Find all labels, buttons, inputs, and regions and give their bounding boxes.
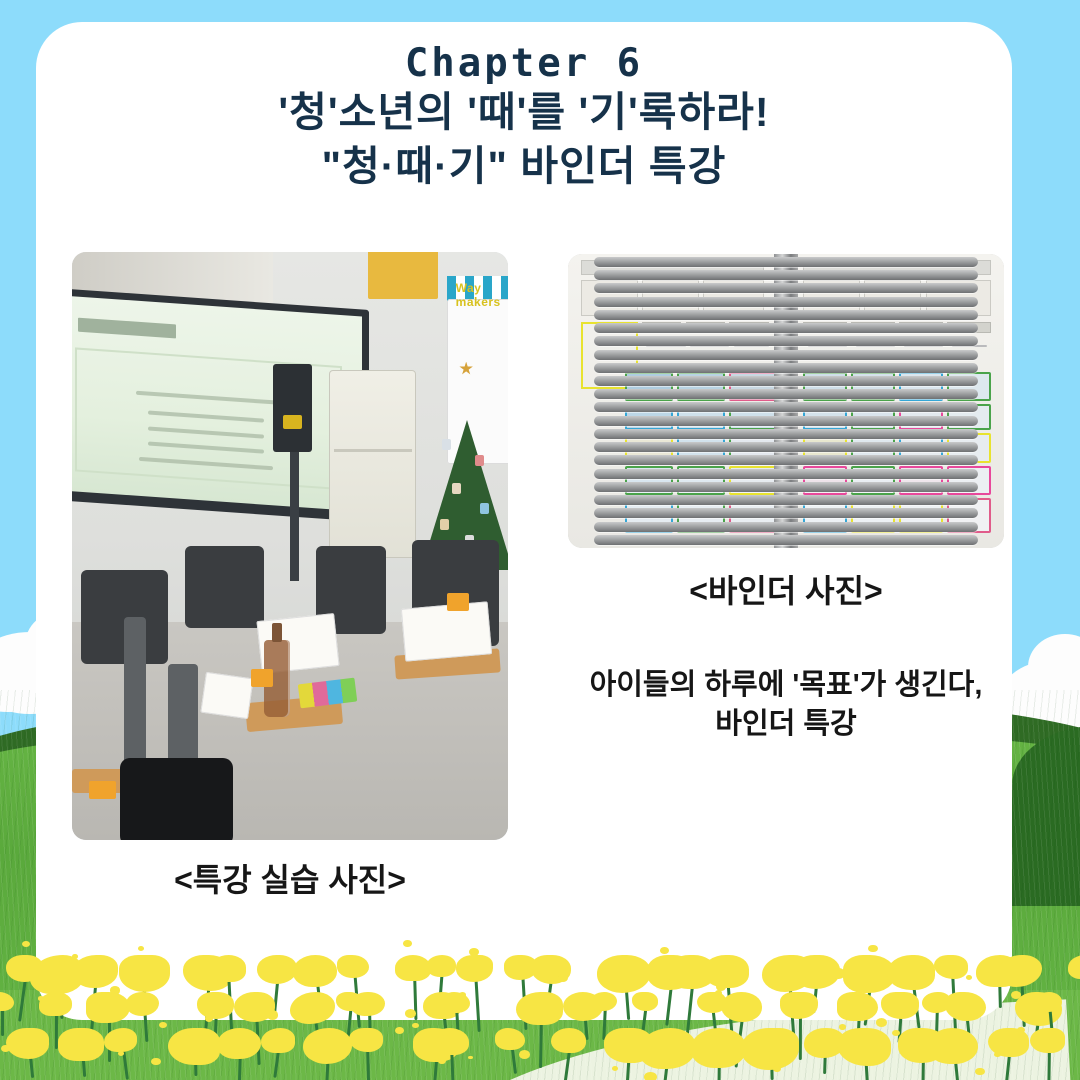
flower-petal-dot: [188, 1032, 193, 1036]
flower-head: [551, 1028, 586, 1053]
flower: [261, 1028, 295, 1080]
paper-sheet: [200, 672, 253, 719]
flower: [1030, 1028, 1065, 1080]
flower-head: [837, 1028, 890, 1066]
binder-ring: [594, 270, 978, 280]
flower-petal-dot: [110, 986, 120, 994]
flower-petal-dot: [868, 945, 878, 953]
flower-petal-dot: [839, 1024, 846, 1029]
page-title-line2: '청'소년의 '때'를 '기'록하라!: [36, 85, 1012, 139]
flower-head: [303, 1028, 353, 1064]
snack-pack: [89, 781, 115, 799]
tree-ornament: [442, 439, 451, 450]
caption-binder: <바인더 사진>: [568, 566, 1004, 612]
binder-ring: [594, 482, 978, 492]
binder-ring: [594, 376, 978, 386]
tree-ornament: [452, 483, 461, 494]
flower: [551, 1028, 586, 1080]
binder-ring: [594, 455, 978, 465]
photo-binder: [568, 254, 1004, 548]
binder-ring: [594, 495, 978, 505]
flower-head: [597, 955, 650, 993]
flower-head: [119, 955, 170, 992]
flower-head: [721, 992, 762, 1022]
caption-classroom: <특강 실습 사진>: [72, 855, 508, 901]
flower-petal-dot: [1017, 1027, 1024, 1033]
flower-head: [741, 1028, 799, 1070]
flower-head: [590, 992, 617, 1011]
snack-pack: [251, 669, 273, 687]
flower-head: [337, 955, 369, 978]
flower-head: [928, 1028, 979, 1064]
flower-petal-dot: [113, 1007, 119, 1011]
backpack: [120, 758, 233, 840]
binder-ring: [594, 442, 978, 452]
flower-head: [426, 955, 456, 977]
speaker-stand: [290, 452, 299, 581]
tree-ornament: [440, 519, 449, 530]
flower-head: [293, 955, 337, 987]
flower-petal-dot: [427, 1053, 437, 1061]
binder-ring: [594, 389, 978, 399]
slide-heading-bar: [78, 318, 176, 338]
flower-petal-dot: [892, 1030, 899, 1036]
flower-petal-dot: [151, 1058, 160, 1066]
flower-petal-dot: [205, 1015, 213, 1021]
flower: [1068, 955, 1080, 1021]
flower-head: [58, 1028, 104, 1061]
page-title-line3: "청·때·기" 바인더 특강: [36, 139, 1012, 193]
flower-head: [217, 1028, 260, 1059]
flower-head: [887, 955, 935, 990]
binder-ring: [594, 323, 978, 333]
flower-petal-dot: [72, 954, 78, 959]
flower: [168, 1028, 219, 1080]
tagline-line-2: 바인더 특강: [540, 705, 1032, 744]
binder-ring: [594, 429, 978, 439]
flower: [217, 1028, 260, 1080]
flower: [349, 1028, 383, 1080]
flower-head: [349, 1028, 383, 1052]
binder-ring: [594, 350, 978, 360]
flower-head: [441, 992, 471, 1013]
projector-screen-frame: [72, 288, 368, 522]
flower: [691, 1028, 747, 1080]
flower-head: [639, 1028, 696, 1069]
flower-head: [881, 992, 918, 1019]
flower-petal-dot: [395, 1027, 404, 1034]
snack-pack: [447, 593, 469, 611]
flower-head: [780, 992, 818, 1019]
flower: [928, 1028, 979, 1080]
projector-screen: [72, 295, 361, 511]
flower-head: [1030, 1028, 1065, 1053]
flower-petal-dot: [660, 947, 668, 954]
flower-head: [290, 992, 335, 1024]
flower-petal-dot: [403, 940, 411, 947]
flower-petal-dot: [796, 970, 808, 979]
flower-petal-dot: [715, 990, 722, 996]
binder-ring: [594, 402, 978, 412]
flower-head: [691, 1028, 747, 1068]
page-title-chapter: Chapter 6: [36, 44, 1012, 85]
flower-head: [351, 992, 385, 1016]
flower-head: [6, 1028, 49, 1059]
flower-head: [516, 992, 563, 1025]
flower-head: [261, 1028, 295, 1053]
binder-ring: [594, 336, 978, 346]
binder-ring: [594, 535, 978, 545]
flower-head: [1068, 955, 1080, 979]
poster-canvas: Chapter 6 '청'소년의 '때'를 '기'록하라! "청·때·기" 바인…: [0, 0, 1080, 1080]
binder-ring: [594, 310, 978, 320]
flower-petal-dot: [469, 948, 479, 956]
flower-petal-dot: [773, 1066, 781, 1072]
flower: [741, 1028, 799, 1080]
binder-ring: [594, 257, 978, 267]
flower-head: [86, 992, 129, 1023]
refrigerator: [329, 370, 416, 558]
tree-ornament: [480, 503, 489, 514]
binder-ring: [594, 522, 978, 532]
flower-petal-dot: [975, 1068, 985, 1076]
tagline-line-1: 아이들의 하루에 '목표'가 생긴다,: [540, 666, 1032, 705]
flower-petal-dot: [690, 1049, 698, 1056]
binder-ring: [594, 283, 978, 293]
flower-head: [495, 1028, 525, 1050]
flower-head: [998, 955, 1042, 987]
flower-petal-dot: [38, 996, 43, 1000]
tree-ornament: [475, 455, 484, 466]
flower-head: [837, 992, 877, 1021]
flower-head: [104, 1028, 137, 1052]
binder-ring: [594, 363, 978, 373]
flower-petal-dot: [832, 968, 845, 978]
wall-sign-label: Way makers: [456, 281, 508, 309]
flower-head: [945, 992, 986, 1021]
flower: [58, 1028, 104, 1080]
flower: [432, 1028, 469, 1080]
flower: [303, 1028, 353, 1080]
flower-head: [126, 992, 159, 1016]
flower-head: [1034, 992, 1062, 1012]
flower-head: [703, 955, 749, 988]
photo-classroom: Way makers: [72, 252, 508, 840]
wall-poster: [368, 252, 438, 299]
chair-leg: [124, 617, 146, 770]
title-block: Chapter 6 '청'소년의 '때'를 '기'록하라! "청·때·기" 바인…: [36, 44, 1012, 193]
binder-ring: [594, 416, 978, 426]
binder-ring: [594, 469, 978, 479]
flower-head: [257, 955, 297, 984]
flower-head: [72, 955, 118, 988]
flower-head: [632, 992, 658, 1011]
flower-head: [209, 955, 246, 982]
binder-ring: [594, 297, 978, 307]
flower-petal-dot: [519, 1050, 530, 1059]
flower: [6, 1028, 49, 1080]
chair: [185, 546, 263, 628]
flower-petal-dot: [346, 994, 351, 998]
flower-head: [456, 955, 493, 982]
tagline-block: 아이들의 하루에 '목표'가 생긴다, 바인더 특강: [540, 666, 1032, 744]
flower-petal-dot: [437, 1010, 446, 1018]
flower-petal-dot: [267, 1040, 275, 1046]
flower-petal-dot: [299, 1016, 307, 1022]
binder-ring: [594, 508, 978, 518]
flower-petal-dot: [267, 1010, 278, 1019]
flower-petal-dot: [459, 992, 466, 998]
flower-head: [0, 992, 14, 1011]
flower-head: [934, 955, 968, 979]
flower-petal-dot: [826, 978, 830, 982]
flower-head: [168, 1028, 219, 1065]
flower-petal-dot: [644, 1072, 656, 1080]
speaker-box: [273, 364, 312, 452]
flower-head: [39, 992, 72, 1016]
